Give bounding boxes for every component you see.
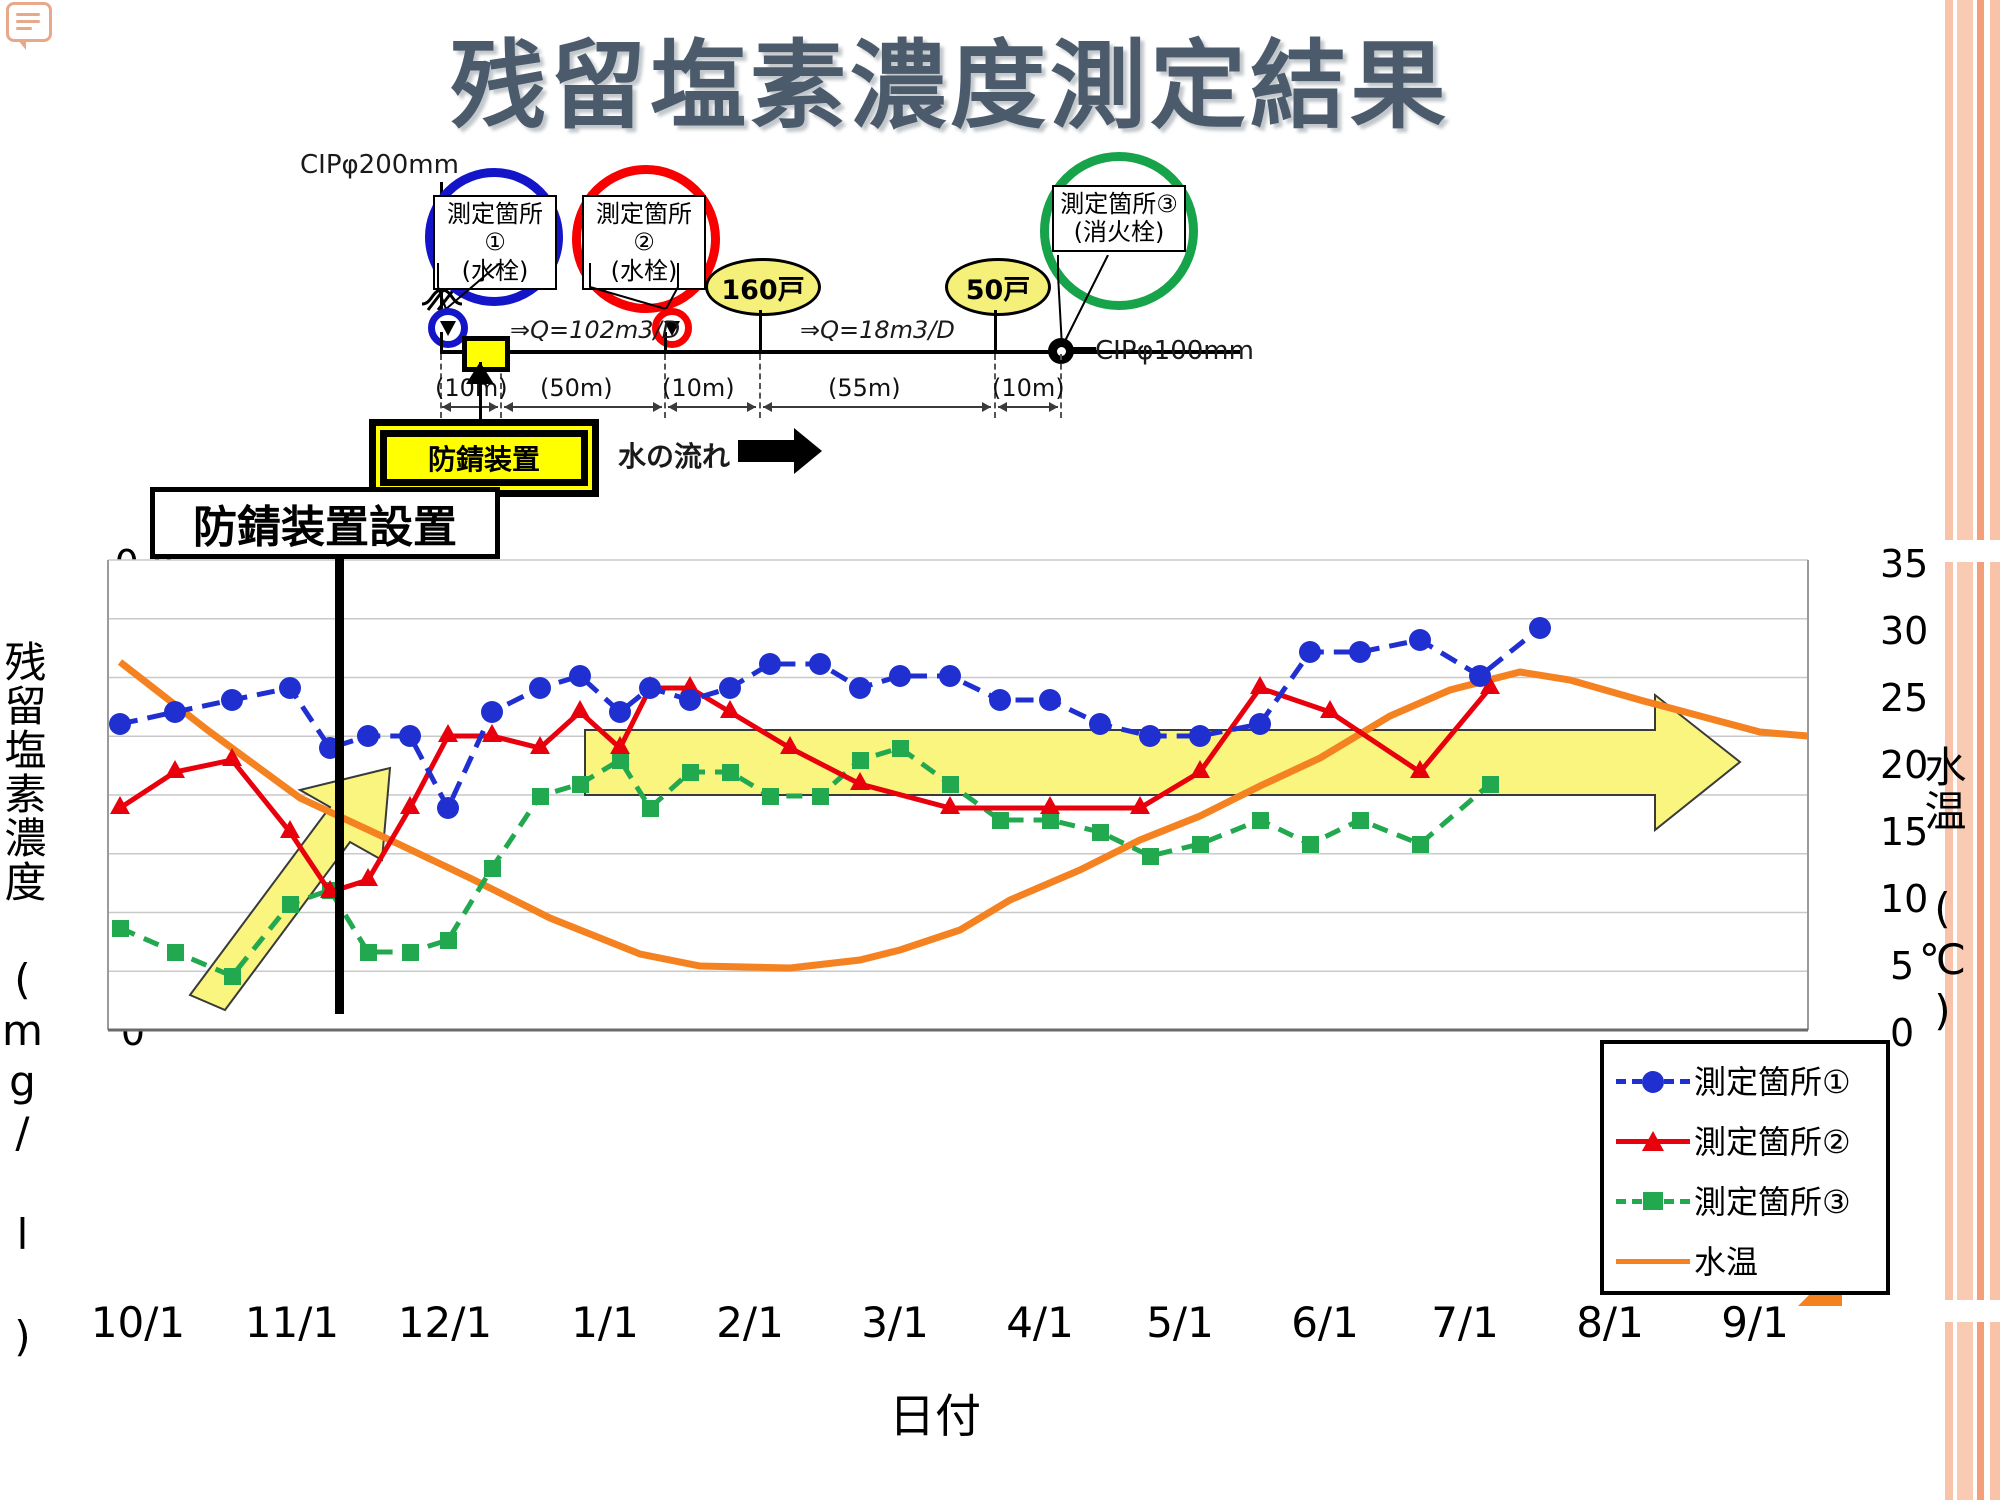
- dim-line-1: [442, 406, 498, 408]
- installation-marker-line: [335, 548, 344, 1014]
- legend-item-2[interactable]: 測定箇所②: [1604, 1110, 1886, 1170]
- page-title: 残留塩素濃度測定結果: [0, 8, 1900, 147]
- x-tick-12-1: 12/1: [385, 1298, 505, 1347]
- x-tick-11-1: 11/1: [232, 1298, 352, 1347]
- legend-label-2: 測定箇所②: [1690, 1117, 1851, 1163]
- pipe-main-label: CIPφ200mm: [300, 150, 459, 180]
- x-tick-2-1: 2/1: [690, 1298, 810, 1347]
- dim-line-3: [668, 406, 756, 408]
- legend-marker-square-icon: [1616, 1188, 1690, 1212]
- callout-3-sub: (消火栓): [1074, 218, 1165, 246]
- legend-marker-circle-icon: [1616, 1068, 1690, 1092]
- flow-rate-label-1: ⇒Q=102m3/D: [510, 316, 680, 344]
- dim-guide-4: [759, 354, 761, 418]
- callout-1-name: 測定箇所①: [447, 200, 543, 256]
- legend-marker-line-icon: [1616, 1248, 1690, 1272]
- dim-line-5: [998, 406, 1058, 408]
- decor-stripe-break-top: [1940, 540, 2000, 562]
- dim-line-2: [504, 406, 662, 408]
- household-160-label: 160戸: [721, 268, 804, 307]
- chart-legend: 測定箇所① 測定箇所② 測定箇所③ 水温: [1600, 1040, 1890, 1295]
- x-tick-9-1: 9/1: [1695, 1298, 1815, 1347]
- decor-stripe-4: [1990, 0, 2000, 1500]
- chart-svg: [0, 540, 1940, 1100]
- x-tick-7-1: 7/1: [1405, 1298, 1525, 1347]
- callout-3-name: 測定箇所③: [1060, 190, 1178, 218]
- legend-item-1[interactable]: 測定箇所①: [1604, 1050, 1886, 1110]
- dim-label-2: (50m): [540, 374, 613, 402]
- household-50-label: 50戸: [966, 268, 1031, 307]
- dim-label-3: (10m): [662, 374, 735, 402]
- callout-location-3: 測定箇所③ (消火栓): [1052, 185, 1186, 252]
- drop-pipe-1: [440, 332, 443, 352]
- household-bubble-50: 50戸: [945, 258, 1051, 316]
- water-flow-arrow-icon: [738, 440, 796, 462]
- flow-rate-label-2: ⇒Q=18m3/D: [800, 316, 955, 344]
- pipeline-schematic: CIPφ200mm CIPφ100mm 測定箇所① (水栓) 測定箇所② (水栓…: [300, 140, 1300, 490]
- legend-item-3[interactable]: 測定箇所③: [1604, 1170, 1886, 1230]
- legend-label-1: 測定箇所①: [1690, 1057, 1851, 1103]
- branch-pipe-right: [1072, 347, 1096, 354]
- anti-rust-device-label: 防錆装置: [428, 438, 540, 478]
- dim-label-5: (10m): [992, 374, 1065, 402]
- legend-item-4[interactable]: 水温: [1604, 1230, 1886, 1290]
- household-50-stem: [994, 310, 997, 352]
- installation-annotation-box: 防錆装置設置: [150, 487, 500, 559]
- household-bubble-160: 160戸: [705, 258, 821, 316]
- legend-marker-triangle-icon: [1616, 1128, 1690, 1152]
- x-tick-10-1: 10/1: [78, 1298, 198, 1347]
- callout-3-leader: [1048, 255, 1178, 351]
- decor-stripe-break-bottom: [1940, 1300, 2000, 1322]
- chart-plot-region: [0, 540, 1940, 1100]
- dim-label-4: (55m): [828, 374, 901, 402]
- x-tick-5-1: 5/1: [1120, 1298, 1240, 1347]
- decor-stripe-3: [1977, 0, 1984, 1500]
- x-tick-3-1: 3/1: [835, 1298, 955, 1347]
- legend-label-3: 測定箇所③: [1690, 1177, 1851, 1223]
- x-tick-8-1: 8/1: [1550, 1298, 1670, 1347]
- installation-annotation-label: 防錆装置設置: [193, 491, 457, 555]
- callout-2-leader: [578, 263, 708, 321]
- legend-label-4: 水温: [1690, 1237, 1758, 1283]
- callout-2-name: 測定箇所②: [596, 200, 692, 256]
- anti-rust-device-box: 防錆装置: [380, 430, 588, 486]
- household-160-stem: [759, 310, 762, 352]
- x-tick-1-1: 1/1: [545, 1298, 665, 1347]
- water-flow-label: 水の流れ: [618, 435, 730, 475]
- x-axis-title: 日付: [0, 1380, 1870, 1446]
- x-tick-4-1: 4/1: [980, 1298, 1100, 1347]
- x-tick-6-1: 6/1: [1265, 1298, 1385, 1347]
- device-up-arrow-icon: [466, 362, 494, 384]
- dim-line-4: [763, 406, 991, 408]
